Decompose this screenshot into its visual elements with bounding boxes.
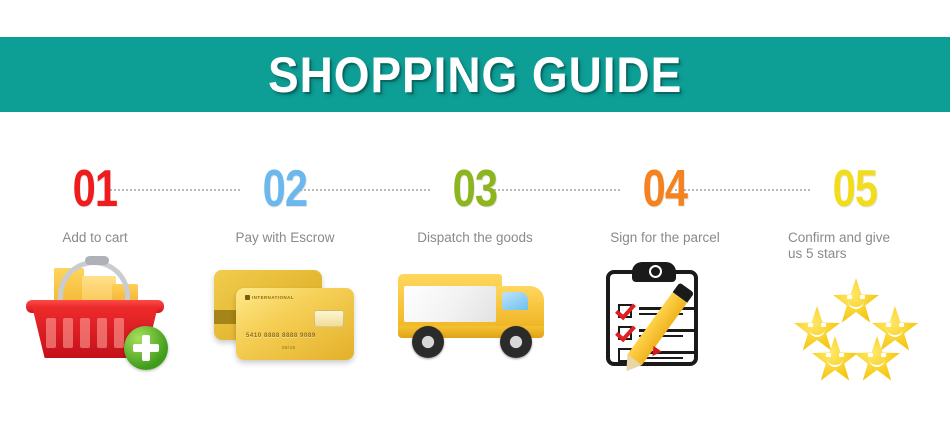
star-icon: [833, 278, 879, 324]
clipboard-checklist-icon: [580, 260, 750, 370]
step-connector: [105, 189, 240, 191]
step-number-row: 01: [0, 160, 190, 218]
clipboard-clamp: [632, 262, 676, 282]
step-caption: Confirm and give us 5 stars: [760, 230, 950, 262]
checkbox-checked: [618, 304, 632, 318]
step-connector: [675, 189, 810, 191]
step-caption: Dispatch the goods: [380, 230, 570, 246]
plus-badge-icon: [124, 326, 168, 370]
step-05: 05 Confirm and give us 5 stars: [760, 160, 950, 400]
shopping-guide-banner: SHOPPING GUIDE 01 Add to cart: [0, 0, 950, 432]
step-number: 03: [453, 163, 498, 215]
step-04: 04 Sign for the parcel: [570, 160, 760, 400]
page-title: SHOPPING GUIDE: [268, 46, 682, 104]
steps-row: 01 Add to cart: [0, 160, 950, 400]
step-connector: [295, 189, 430, 191]
card-number: 5410 8888 8888 9089: [246, 333, 346, 339]
truck-wheel: [412, 326, 444, 358]
step-02: 02 Pay with Escrow INTERNATIONAL 5410 88…: [190, 160, 380, 400]
step-caption: Pay with Escrow: [190, 230, 380, 246]
card-brand-label: INTERNATIONAL: [245, 295, 294, 300]
shopping-basket-icon: [10, 260, 180, 370]
star-icon: [812, 336, 858, 382]
truck-cargo-box: [398, 274, 502, 330]
step-caption: Add to cart: [0, 230, 190, 246]
truck-window: [502, 292, 528, 310]
star-icon: [854, 336, 900, 382]
delivery-truck-icon: [390, 260, 560, 370]
step-connector: [485, 189, 620, 191]
step-01: 01 Add to cart: [0, 160, 190, 400]
card-expiry: 05/16: [282, 345, 296, 350]
step-number: 04: [643, 163, 688, 215]
step-caption: Sign for the parcel: [570, 230, 760, 246]
truck-wheel: [500, 326, 532, 358]
header-banner: SHOPPING GUIDE: [0, 37, 950, 112]
truck-cargo-panel: [404, 286, 496, 322]
credit-cards-icon: INTERNATIONAL 5410 8888 8888 9089 05/16: [200, 260, 370, 370]
step-number: 01: [73, 163, 118, 215]
step-number: 02: [263, 163, 308, 215]
step-number: 05: [833, 163, 878, 215]
card-chip-icon: [314, 310, 344, 327]
credit-card-front: INTERNATIONAL 5410 8888 8888 9089 05/16: [236, 288, 354, 360]
step-03: 03 Dispatch the goods: [380, 160, 570, 400]
five-stars-icon: [770, 276, 940, 386]
checkbox-checked: [618, 326, 632, 340]
